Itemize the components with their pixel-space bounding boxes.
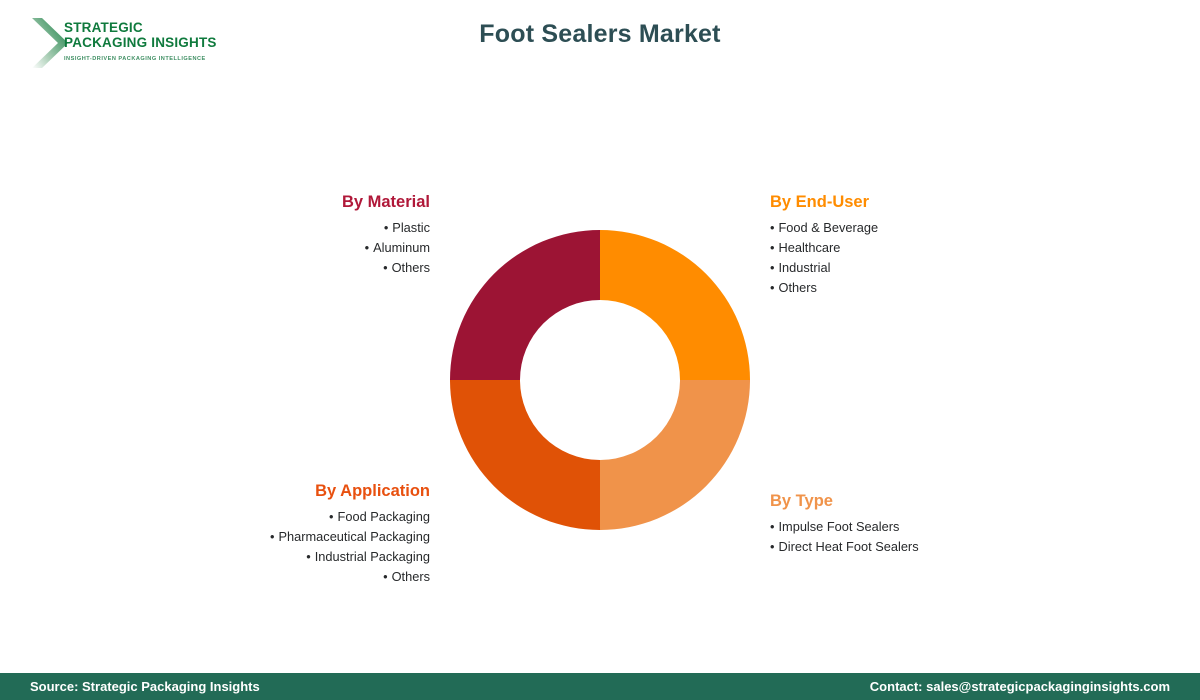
list-item-label: Food Packaging xyxy=(338,509,430,524)
segment-list-type: •Impulse Foot Sealers •Direct Heat Foot … xyxy=(770,517,1100,557)
donut-slice-type[interactable] xyxy=(600,380,750,530)
list-item: •Plastic xyxy=(130,218,430,238)
segment-list-application: •Food Packaging •Pharmaceutical Packagin… xyxy=(120,507,430,587)
list-item-label: Impulse Foot Sealers xyxy=(778,519,899,534)
bullet-icon: • xyxy=(770,517,774,537)
donut-slice-end-user[interactable] xyxy=(600,230,750,380)
bullet-icon: • xyxy=(770,537,774,557)
list-item-label: Aluminum xyxy=(373,240,430,255)
bullet-icon: • xyxy=(770,218,774,238)
list-item: •Industrial xyxy=(770,258,1100,278)
list-item-label: Plastic xyxy=(392,220,430,235)
segment-title-end-user: By End-User xyxy=(770,193,1100,212)
segment-title-application: By Application xyxy=(120,482,430,501)
segment-list-end-user: •Food & Beverage •Healthcare •Industrial… xyxy=(770,218,1100,298)
bullet-icon: • xyxy=(270,527,274,547)
list-item: •Impulse Foot Sealers xyxy=(770,517,1100,537)
list-item: •Others xyxy=(770,278,1100,298)
donut-chart-svg xyxy=(450,230,750,530)
footer-bar: Source: Strategic Packaging Insights Con… xyxy=(0,673,1200,700)
bullet-icon: • xyxy=(770,238,774,258)
segment-list-material: •Plastic •Aluminum •Others xyxy=(130,218,430,278)
list-item: •Aluminum xyxy=(130,238,430,258)
logo-tagline: INSIGHT-DRIVEN PACKAGING INTELLIGENCE xyxy=(64,56,229,62)
list-item-label: Pharmaceutical Packaging xyxy=(278,529,430,544)
list-item-label: Food & Beverage xyxy=(778,220,878,235)
bullet-icon: • xyxy=(383,258,387,278)
donut-chart xyxy=(450,230,750,530)
bullet-icon: • xyxy=(329,507,333,527)
donut-slice-application[interactable] xyxy=(450,380,600,530)
list-item: •Others xyxy=(130,258,430,278)
donut-slice-material[interactable] xyxy=(450,230,600,380)
list-item-label: Others xyxy=(778,280,816,295)
segment-by-type: By Type •Impulse Foot Sealers •Direct He… xyxy=(770,492,1100,557)
list-item: •Others xyxy=(120,567,430,587)
list-item: •Industrial Packaging xyxy=(120,547,430,567)
list-item-label: Others xyxy=(392,260,430,275)
footer-source: Source: Strategic Packaging Insights xyxy=(30,679,260,694)
bullet-icon: • xyxy=(383,567,387,587)
list-item-label: Healthcare xyxy=(778,240,840,255)
bullet-icon: • xyxy=(770,258,774,278)
footer-contact: Contact: sales@strategicpackaginginsight… xyxy=(870,679,1170,694)
list-item: •Direct Heat Foot Sealers xyxy=(770,537,1100,557)
list-item-label: Direct Heat Foot Sealers xyxy=(778,539,918,554)
bullet-icon: • xyxy=(770,278,774,298)
list-item: •Healthcare xyxy=(770,238,1100,258)
segment-by-material: By Material •Plastic •Aluminum •Others xyxy=(130,193,430,278)
segment-title-type: By Type xyxy=(770,492,1100,511)
list-item: •Food & Beverage xyxy=(770,218,1100,238)
list-item: •Pharmaceutical Packaging xyxy=(120,527,430,547)
list-item-label: Others xyxy=(392,569,430,584)
segment-by-end-user: By End-User •Food & Beverage •Healthcare… xyxy=(770,193,1100,298)
list-item-label: Industrial Packaging xyxy=(315,549,430,564)
bullet-icon: • xyxy=(306,547,310,567)
segment-by-application: By Application •Food Packaging •Pharmace… xyxy=(120,482,430,587)
list-item-label: Industrial xyxy=(778,260,830,275)
bullet-icon: • xyxy=(365,238,369,258)
page-title: Foot Sealers Market xyxy=(0,20,1200,49)
segment-title-material: By Material xyxy=(130,193,430,212)
list-item: •Food Packaging xyxy=(120,507,430,527)
bullet-icon: • xyxy=(384,218,388,238)
